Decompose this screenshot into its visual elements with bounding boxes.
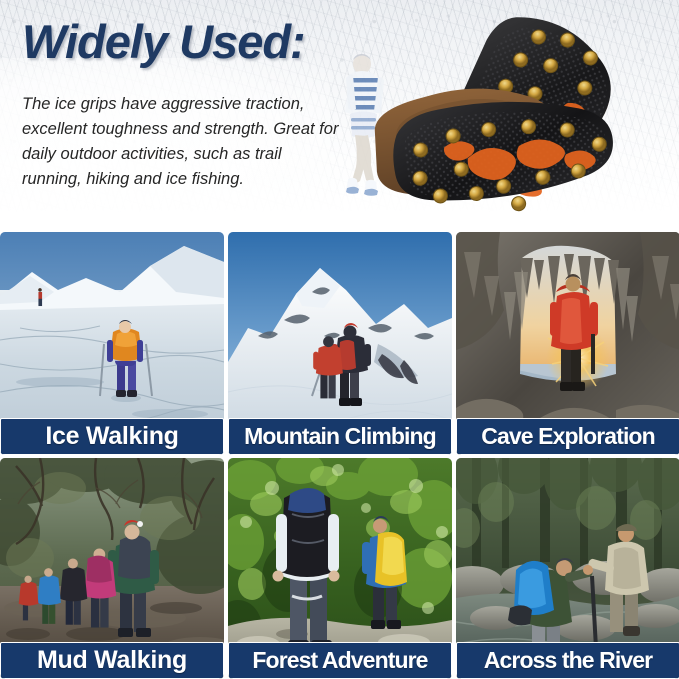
description-paragraph: The ice grips have aggressive traction, … [22,92,344,192]
activity-cell-mountain-climbing[interactable]: Mountain Climbing [228,232,452,455]
page-title: Widely Used: [22,14,305,69]
header-section: Widely Used:The ice grips have aggressiv… [0,0,679,232]
activity-photo-grid: Ice Walking [0,232,679,679]
activity-cell-ice-walking[interactable]: Ice Walking [0,232,224,455]
ice-grip-product-photo [366,0,679,214]
caption-mud-walking: Mud Walking [0,642,224,679]
caption-forest-adventure: Forest Adventure [228,642,452,679]
infographic-page: Widely Used:The ice grips have aggressiv… [0,0,679,679]
caption-mountain-climbing: Mountain Climbing [228,418,452,455]
caption-across-the-river: Across the River [456,642,679,679]
caption-cave-exploration: Cave Exploration [456,418,679,455]
caption-ice-walking: Ice Walking [0,418,224,455]
activity-cell-across-the-river[interactable]: Across the River [456,458,679,679]
activity-cell-cave-exploration[interactable]: Cave Exploration [456,232,679,455]
activity-cell-forest-adventure[interactable]: Forest Adventure [228,458,452,679]
activity-cell-mud-walking[interactable]: Mud Walking [0,458,224,679]
